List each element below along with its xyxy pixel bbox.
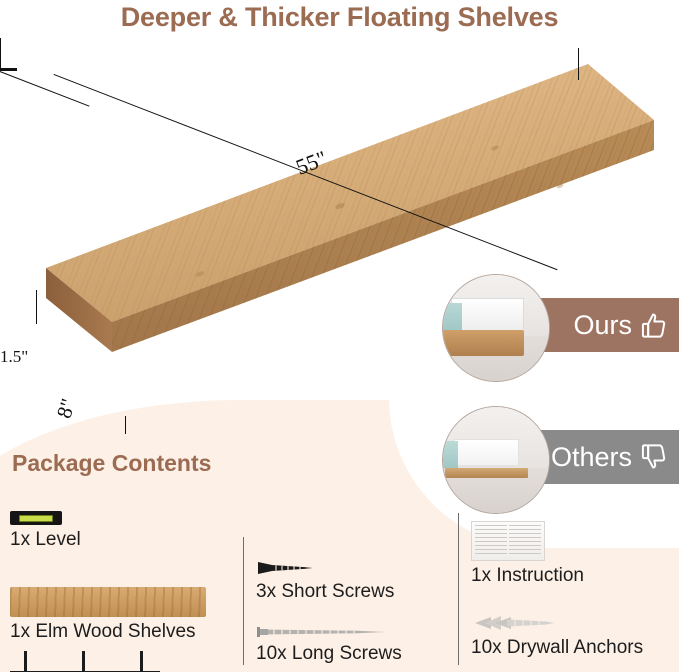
ours-photo: [442, 274, 550, 382]
drywall-anchor-icon: [471, 593, 676, 633]
package-item-label: 10x Drywall Anchors: [471, 635, 676, 661]
level-tool-icon: [10, 485, 243, 525]
package-item-label: 1x Instruction: [471, 563, 676, 589]
package-item-drywall-anchors: 10x Drywall Anchors: [471, 593, 676, 655]
package-column-3: 1x Instruction 10x Drywall Anchors: [458, 513, 676, 665]
others-label: Others: [551, 442, 632, 473]
thickness-leader-line: [36, 290, 37, 324]
thumbs-down-icon: [640, 443, 668, 471]
package-item-label: 10x Long Screws: [256, 641, 458, 667]
package-item-long-screws: 10x Long Screws: [256, 599, 458, 661]
package-item-short-screws: 3x Short Screws: [256, 537, 458, 599]
photo-book-white: [454, 439, 520, 467]
package-item-elm-wood-shelves: 1x Elm Wood Shelves: [10, 577, 243, 639]
length-tick-right: [578, 48, 579, 80]
package-item-metal-brackets: 1x Metal Brackets: [10, 639, 243, 672]
photo-thin-shelf: [445, 468, 528, 478]
thickness-label: 1.5": [0, 347, 28, 367]
package-contents-grid: 1x Level 1x Elm Wood Shelves 1x M: [10, 485, 676, 670]
wood-plank-icon: [10, 577, 243, 617]
photo-thick-shelf: [442, 330, 524, 355]
package-column-1: 1x Level 1x Elm Wood Shelves 1x M: [10, 485, 243, 672]
ours-label: Ours: [573, 310, 632, 341]
package-item-instruction: 1x Instruction: [471, 513, 676, 593]
thumbs-up-icon: [640, 311, 668, 339]
package-item-level: 1x Level: [10, 485, 243, 577]
thickness-tick-bottom: [0, 69, 17, 70]
product-infographic: Deeper & Thicker Floating Shelves: [0, 0, 679, 672]
photo-book-white: [451, 298, 523, 332]
comparison-ours: Ours: [440, 272, 679, 384]
short-screw-icon: [256, 537, 458, 577]
page-title: Deeper & Thicker Floating Shelves: [0, 2, 679, 33]
package-contents-heading: Package Contents: [12, 450, 211, 477]
thickness-dimension-line: [0, 38, 1, 68]
package-item-label: 1x Level: [10, 527, 243, 553]
others-photo: [442, 406, 550, 514]
depth-label: 8": [52, 396, 82, 422]
instruction-sheet-icon: [471, 513, 676, 561]
long-screw-icon: [256, 599, 458, 639]
metal-bracket-icon: [10, 639, 243, 672]
depth-tick-end: [125, 416, 126, 434]
package-column-2: 3x Short Screws 10x Long Screws: [243, 537, 458, 665]
photo-book-teal: [442, 441, 458, 469]
